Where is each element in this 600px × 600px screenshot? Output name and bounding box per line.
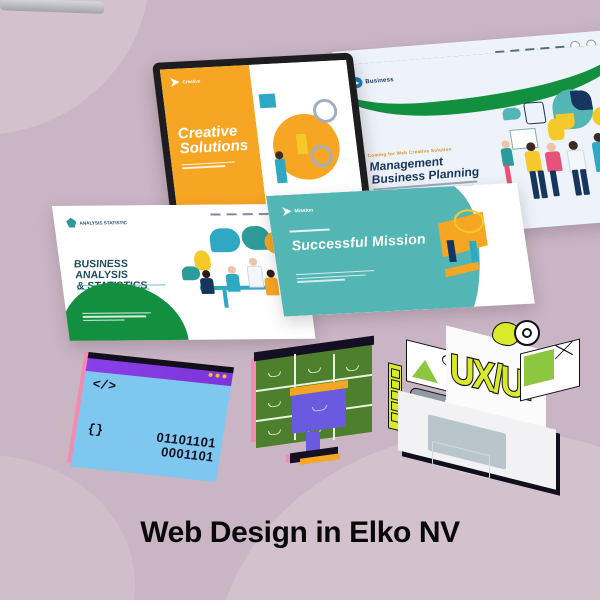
person-head: [266, 270, 275, 278]
code-tag-icon: </>: [91, 377, 117, 394]
analysis-logo[interactable]: ANALYSIS STATISTIC: [66, 217, 128, 227]
wireframe-fill-block: [524, 349, 554, 386]
person-body: [591, 141, 600, 172]
person-body: [524, 151, 542, 173]
stopwatch-icon: [523, 101, 547, 124]
yellow-step: [445, 262, 479, 278]
analysis-logo-text: ANALYSIS STATISTIC: [79, 220, 127, 225]
gear-icon: [514, 320, 540, 346]
person-head: [593, 133, 600, 143]
page-title: Web Design in Elko NV: [0, 516, 600, 550]
nav-item-home[interactable]: [210, 213, 220, 215]
analysis-heading-line1: BUSINESS ANALYSIS: [73, 258, 129, 281]
poster-canvas: Business Coming for Web Creative Solutio…: [0, 0, 600, 600]
mountain-image-icon: [412, 357, 438, 383]
creative-logo[interactable]: Creative: [170, 76, 201, 86]
window-dot-maximize[interactable]: [222, 374, 227, 378]
chat-bubble-icon: [208, 228, 241, 252]
arrow-logo-icon: [282, 207, 292, 216]
code-braces-icon: {}: [86, 421, 104, 437]
mission-logo-text: Mission: [294, 207, 314, 214]
creative-logo-text: Creative: [182, 78, 200, 84]
tool-shape-icon[interactable]: [391, 379, 400, 390]
management-logo-text: Business: [365, 77, 394, 85]
mission-logo[interactable]: Mission: [282, 206, 314, 217]
monitor-stand-foot: [0, 0, 104, 14]
person-body: [246, 266, 264, 288]
table-leg: [222, 290, 228, 308]
panel-successful-mission[interactable]: Mission Successful Mission: [266, 183, 535, 317]
creative-heading: Creative Solutions: [177, 123, 249, 156]
person-head: [227, 266, 236, 274]
analytics-logo-icon: [66, 218, 77, 228]
creative-heading-line2: Solutions: [179, 137, 249, 157]
nav-item-blog[interactable]: [259, 213, 269, 215]
analysis-blob-text: [82, 312, 152, 323]
window-dot-minimize[interactable]: [215, 373, 220, 377]
window-control-dots[interactable]: [208, 373, 227, 379]
nav-item-services[interactable]: [243, 213, 253, 215]
person-body: [500, 148, 514, 167]
person-body: [225, 274, 240, 292]
wireframe-cross-line-2: [555, 341, 573, 360]
person-leg: [550, 170, 560, 196]
person-body: [544, 151, 562, 172]
play-bubble-icon: [181, 266, 201, 280]
uxui-laptop-illustration[interactable]: UX/UI: [384, 318, 584, 498]
arrow-logo-icon: [170, 78, 180, 87]
binary-text: 01101101 0001101: [153, 431, 217, 465]
person-body: [200, 278, 215, 294]
mission-illustration: [430, 206, 514, 289]
person-head: [202, 270, 211, 278]
window-dot-close[interactable]: [208, 373, 213, 377]
tool-pencil-icon[interactable]: [391, 368, 400, 379]
creative-subtitle: [182, 161, 245, 171]
chat-bubble-icon: [502, 107, 522, 120]
file-cabinet-illustration[interactable]: [256, 340, 378, 468]
code-window-canvas[interactable]: </> {} 01101101 0001101: [70, 371, 231, 482]
nav-item-about[interactable]: [226, 213, 236, 215]
person-body: [264, 277, 279, 295]
code-browser-window[interactable]: </> {} 01101101 0001101: [70, 356, 233, 482]
bar-chart-icon: [259, 94, 277, 109]
background-arc-top-left: [0, 0, 150, 135]
person-head: [248, 258, 257, 266]
titlebar-top-edge: [88, 352, 234, 373]
